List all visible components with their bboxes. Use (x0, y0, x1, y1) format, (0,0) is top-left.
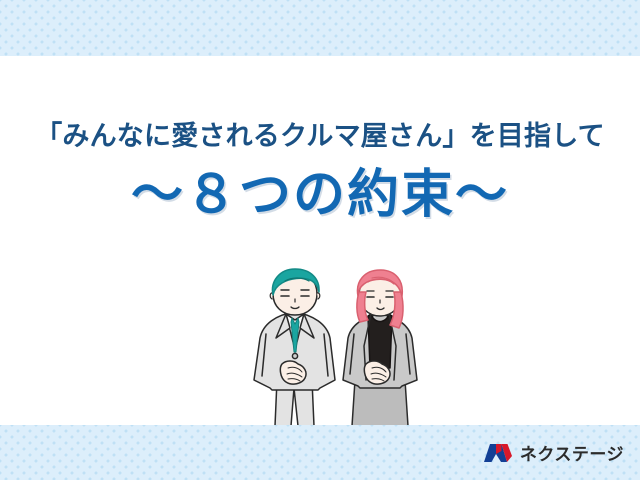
nextage-logo-text: ネクステージ (520, 440, 624, 465)
nextage-logo: ネクステージ (483, 440, 624, 465)
slide-canvas: 「みんなに愛されるクルマ屋さん」を目指して ～８つの約束～ (0, 0, 640, 480)
headline-title: ～８つの約束～ (0, 164, 640, 226)
nextage-n-mark (483, 442, 513, 464)
two-bowing-staff-illustration (232, 268, 432, 428)
man-jacket-button (292, 353, 297, 358)
top-dot-band (0, 0, 640, 56)
headline-block: 「みんなに愛されるクルマ屋さん」を目指して ～８つの約束～ (0, 118, 640, 226)
headline-subtitle: 「みんなに愛されるクルマ屋さん」を目指して (0, 118, 640, 154)
woman-inner-top (368, 314, 392, 368)
